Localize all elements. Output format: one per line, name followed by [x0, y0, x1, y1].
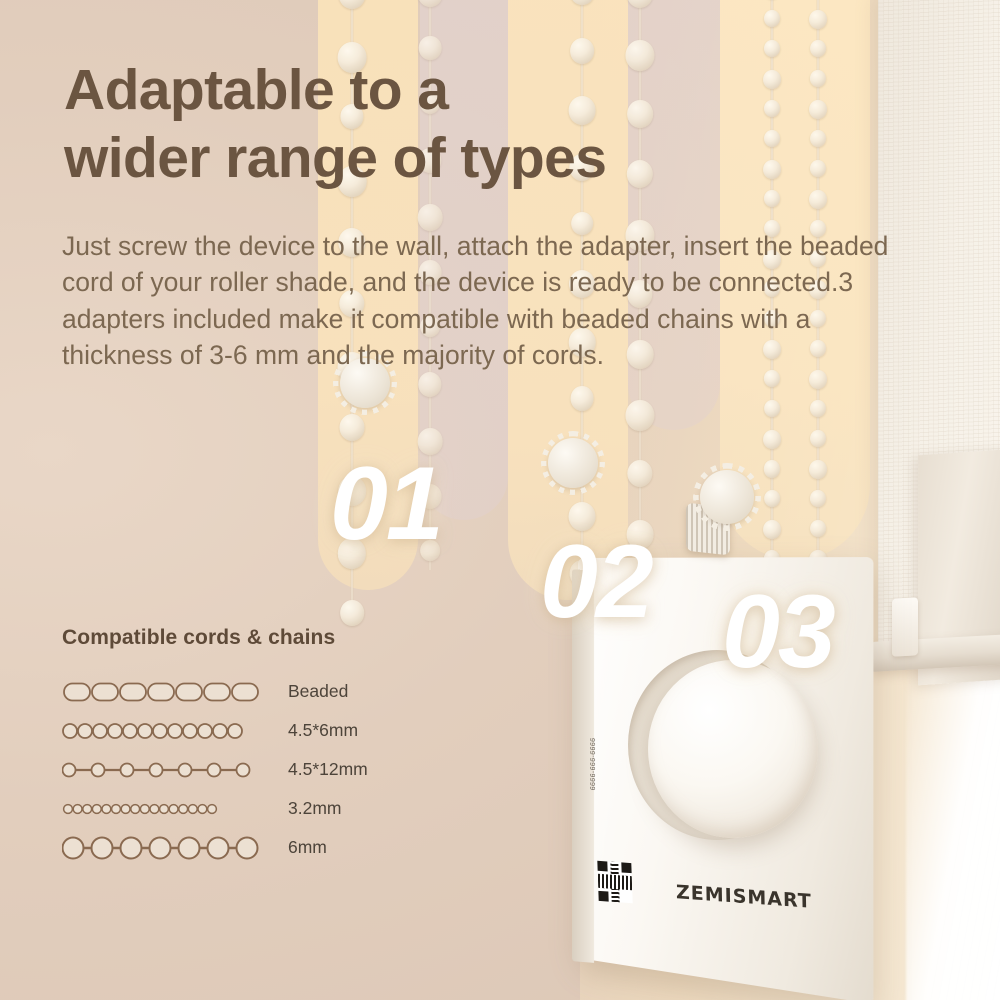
chain-bead [764, 10, 780, 27]
chain-bead [763, 70, 781, 89]
chain-bead [418, 204, 443, 231]
chain-bead [571, 386, 594, 411]
headline-line-2: wider range of types [64, 126, 606, 190]
chain-bead [810, 400, 826, 417]
chain-bead [570, 0, 594, 5]
device-serial-number: 6666-666-6666 [590, 737, 597, 790]
compatibility-label: 3.2mm [288, 798, 341, 819]
chain-diagram-circles-long-bar [62, 757, 260, 783]
compatibility-row: Beaded [62, 672, 368, 711]
chain-bead [809, 100, 827, 119]
chain-bead [809, 190, 827, 209]
chain-bead [340, 414, 365, 441]
chain-bead [810, 490, 826, 507]
chain-bead [340, 600, 364, 626]
step-number-03: 03 [722, 580, 834, 684]
chain-bead [763, 520, 781, 539]
chain-icon [62, 679, 260, 705]
compatibility-title: Compatible cords & chains [62, 626, 368, 650]
chain-bead [810, 40, 826, 57]
chain-bead [625, 400, 654, 431]
compatibility-row: 3.2mm [62, 789, 368, 828]
chain-bead [627, 460, 652, 487]
chain-bead [809, 10, 827, 29]
chain-diagram-circles-large [62, 835, 260, 861]
chain-bead [339, 0, 366, 9]
chain-bead [764, 130, 780, 147]
chain-bead [418, 372, 441, 397]
headline-line-1: Adaptable to a [64, 58, 448, 122]
chain-bead [764, 190, 780, 207]
chain-bead [810, 130, 826, 147]
chain-bead [418, 0, 443, 7]
compatibility-row: 6mm [62, 828, 368, 867]
gear-adapter-icon-02 [548, 438, 598, 488]
compatibility-row: 4.5*6mm [62, 711, 368, 750]
compatibility-section: Compatible cords & chains Beaded4.5*6mm4… [62, 626, 368, 867]
body-description: Just screw the device to the wall, attac… [62, 228, 922, 373]
chain-diagram-circles-small [62, 796, 260, 822]
compatibility-list: Beaded4.5*6mm4.5*12mm3.2mm6mm [62, 672, 368, 867]
page-title: Adaptable to a wider range of types [64, 56, 606, 193]
chain-bead [764, 400, 780, 417]
compatibility-label: 4.5*6mm [288, 720, 358, 741]
chain-bead [810, 430, 826, 447]
chain-bead [764, 40, 780, 57]
compatibility-label: Beaded [288, 681, 348, 702]
qr-code-icon [597, 861, 632, 904]
chain-icon [62, 718, 260, 744]
chain-diagram-circles-tight [62, 718, 260, 744]
chain-bead [763, 160, 781, 179]
product-marketing-image: 6666-666-6666 ZEMISMART 01 02 03 Adaptab… [0, 0, 1000, 1000]
step-number-01: 01 [330, 452, 442, 556]
chain-bead [764, 490, 780, 507]
chain-diagram-oval-links [62, 679, 260, 705]
chain-bead [627, 0, 653, 8]
blind-pull-tab [892, 597, 918, 656]
chain-bead [627, 100, 653, 128]
chain-bead [810, 160, 826, 177]
window-light [906, 648, 1000, 1000]
chain-icon [62, 835, 260, 861]
chain-bead [810, 70, 826, 87]
step-number-02: 02 [540, 530, 652, 634]
chain-bead [625, 40, 654, 71]
chain-bead [810, 520, 826, 537]
gear-adapter-icon-03 [700, 470, 754, 524]
compatibility-label: 6mm [288, 837, 327, 858]
chain-bead [809, 460, 827, 479]
chain-icon [62, 796, 260, 822]
chain-bead [764, 460, 780, 478]
chain-bead [764, 100, 780, 117]
compatibility-label: 4.5*12mm [288, 759, 368, 780]
chain-icon [62, 757, 260, 783]
chain-bead [627, 160, 653, 188]
chain-bead [763, 430, 781, 449]
compatibility-row: 4.5*12mm [62, 750, 368, 789]
